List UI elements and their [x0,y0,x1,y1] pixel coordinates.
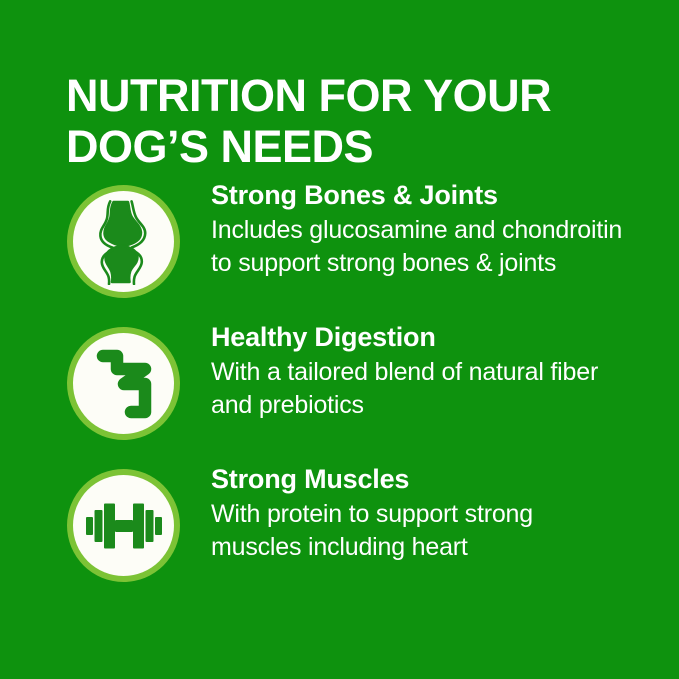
dumbbell-icon [86,503,162,549]
nutrition-benefits-poster: NUTRITION FOR YOUR DOG’S NEEDS [0,0,679,679]
feature-text-block: Healthy Digestion With a tailored blend … [180,320,679,422]
icon-badge-bones-joints [67,185,180,298]
icon-disc [73,191,174,292]
icon-badge-digestion [67,327,180,440]
feature-title: Healthy Digestion [211,320,667,354]
page-title: NUTRITION FOR YOUR DOG’S NEEDS [66,70,626,172]
feature-title: Strong Bones & Joints [211,178,667,212]
list-item: Strong Muscles With protein to support s… [0,462,679,590]
feature-text-block: Strong Bones & Joints Includes glucosami… [180,178,679,280]
icon-disc [73,333,174,434]
icon-badge-muscles [67,469,180,582]
list-item: Healthy Digestion With a tailored blend … [0,320,679,448]
feature-description: With protein to support strong muscles i… [211,498,629,564]
list-item: Strong Bones & Joints Includes glucosami… [0,178,679,306]
intestine-icon [91,347,157,421]
bone-joint-icon [93,199,155,285]
icon-disc [73,475,174,576]
feature-description: Includes glucosamine and chondroitin to … [211,214,629,280]
feature-title: Strong Muscles [211,462,667,496]
feature-description: With a tailored blend of natural fiber a… [211,356,629,422]
feature-text-block: Strong Muscles With protein to support s… [180,462,679,564]
feature-list: Strong Bones & Joints Includes glucosami… [0,178,679,604]
